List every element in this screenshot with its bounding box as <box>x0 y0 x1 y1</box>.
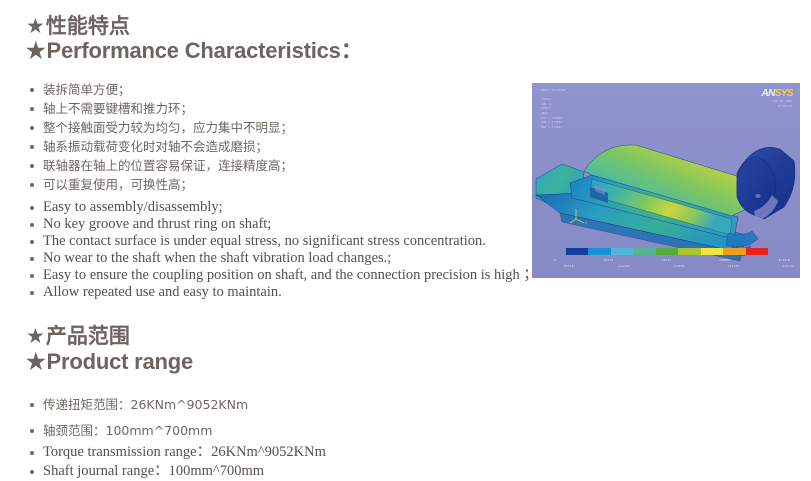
bullet-dot-icon <box>30 145 34 149</box>
bullet-dot-icon <box>30 206 34 210</box>
bullet-dot-icon <box>30 403 34 407</box>
bullet-dot-icon <box>30 183 34 187</box>
colorbar-label: 0 <box>554 258 556 262</box>
list-item-label: Easy to ensure the coupling position on … <box>43 267 538 283</box>
colorbar-label: .196x41 <box>781 264 794 268</box>
performance-heading-cn: ★性能特点 <box>26 14 130 38</box>
list-item-label: 轴上不需要键槽和推力环； <box>43 101 193 116</box>
product-range-bullets-cn: 传递扭矩范围：26KNm^9052KNm 轴颈范围：100mm^700mm <box>30 392 248 444</box>
list-item: Torque transmission range：26KNm^9052KNm <box>30 443 326 462</box>
list-item: Allow repeated use and easy to maintain. <box>30 284 538 301</box>
performance-heading-cn-label: 性能特点 <box>46 14 130 38</box>
colorbar-label: .212277 <box>726 264 739 268</box>
list-item: Shaft journal range：100mm^700mm <box>30 462 326 481</box>
performance-heading-en-label: Performance Characteristics： <box>47 38 363 63</box>
bullet-dot-icon <box>30 470 34 474</box>
bullet-dot-icon <box>30 240 34 244</box>
performance-bullets-en: Easy to assembly/disassembly; No key gro… <box>30 199 538 301</box>
list-item: 装拆简单方便； <box>30 80 293 99</box>
performance-heading-cn-text: ★性能特点 <box>26 14 130 38</box>
list-item-label: 轴系振动载荷变化时对轴不会造成磨损； <box>43 139 268 154</box>
list-item: Easy to assembly/disassembly; <box>30 199 538 216</box>
bullet-dot-icon <box>30 107 34 111</box>
product-range-heading-en: ★Product range <box>26 349 193 375</box>
list-item-label: 传递扭矩范围：26KNm^9052KNm <box>43 397 248 412</box>
bullet-dot-icon <box>30 274 34 278</box>
product-range-heading-cn: ★产品范围 <box>26 324 130 348</box>
product-range-heading-cn-text: ★产品范围 <box>26 324 130 348</box>
list-item: 轴上不需要键槽和推力环； <box>30 99 293 118</box>
colorbar-label: .0e1x5 <box>602 258 613 262</box>
list-item: 联轴器在轴上的位置容易保证，连接精度高； <box>30 156 293 175</box>
list-item-label: 整个接触面受力较为均匀，应力集中不明显； <box>43 120 293 135</box>
performance-bullets-cn: 装拆简单方便； 轴上不需要键槽和推力环； 整个接触面受力较为均匀，应力集中不明显… <box>30 80 293 194</box>
list-item: 轴系振动载荷变化时对轴不会造成磨损； <box>30 137 293 156</box>
stress-colorbar <box>566 248 768 255</box>
performance-heading-en: ★Performance Characteristics： <box>26 38 363 64</box>
star-icon: ★ <box>26 38 46 64</box>
list-item-label: No key groove and thrust ring on shaft; <box>43 216 271 232</box>
product-range-heading-en-label: Product range <box>47 349 194 374</box>
list-item-label: Allow repeated use and easy to maintain. <box>43 284 282 300</box>
star-icon: ★ <box>26 14 45 38</box>
colorbar-label: .188885 <box>717 258 730 262</box>
list-item: 轴颈范围：100mm^700mm <box>30 418 248 444</box>
bullet-dot-icon <box>30 223 34 227</box>
bullet-dot-icon <box>30 429 34 433</box>
list-item-label: 可以重复使用，可换性高； <box>43 177 193 192</box>
colorbar-label: .033182 <box>562 264 575 268</box>
bullet-dot-icon <box>30 164 34 168</box>
colorbar-label: .2x34?8 <box>777 258 790 262</box>
colorbar-label: .1c2832 <box>671 264 684 268</box>
list-item: 传递扭矩范围：26KNm^9052KNm <box>30 392 248 418</box>
list-item: No wear to the shaft when the shaft vibr… <box>30 250 538 267</box>
list-item-label: 装拆简单方便； <box>43 82 131 97</box>
bullet-dot-icon <box>30 257 34 261</box>
colorbar-label: .13273 <box>660 258 671 262</box>
svg-text:X: X <box>585 221 587 225</box>
list-item: 整个接触面受力较为均匀，应力集中不明显； <box>30 118 293 137</box>
list-item-label: The contact surface is under equal stres… <box>43 233 486 249</box>
list-item: 可以重复使用，可换性高； <box>30 175 293 194</box>
star-icon: ★ <box>26 349 46 375</box>
fea-analysis-figure: NODAL SOLUTION STEP=1 SUB =1 TIME=1 SEQV… <box>532 83 800 278</box>
bullet-dot-icon <box>30 291 34 295</box>
list-item-label: 轴颈范围：100mm^700mm <box>43 423 212 438</box>
list-item: The contact surface is under equal stres… <box>30 233 538 250</box>
colorbar-labels-upper: 0 .0e1x5 .13273 .188885 .2x34?8 <box>554 258 790 262</box>
bullet-dot-icon <box>30 88 34 92</box>
colorbar-labels-lower: .033182 .pee147 .1c2832 .212277 .196x41 <box>562 264 794 268</box>
star-icon: ★ <box>26 324 45 348</box>
product-range-bullets-en: Torque transmission range：26KNm^9052KNm … <box>30 443 326 481</box>
product-range-heading-en-text: ★Product range <box>26 349 193 374</box>
list-item-label: 联轴器在轴上的位置容易保证，连接精度高； <box>43 158 293 173</box>
colorbar-label: .pee147 <box>617 264 630 268</box>
performance-heading-en-text: ★Performance Characteristics： <box>26 38 363 63</box>
bullet-dot-icon <box>30 451 34 455</box>
list-item-label: Torque transmission range：26KNm^9052KNm <box>43 444 326 460</box>
list-item: No key groove and thrust ring on shaft; <box>30 216 538 233</box>
list-item-label: No wear to the shaft when the shaft vibr… <box>43 250 391 266</box>
product-range-heading-cn-label: 产品范围 <box>46 324 130 348</box>
bullet-dot-icon <box>30 126 34 130</box>
list-item: Easy to ensure the coupling position on … <box>30 267 538 284</box>
list-item-label: Easy to assembly/disassembly; <box>43 199 223 215</box>
